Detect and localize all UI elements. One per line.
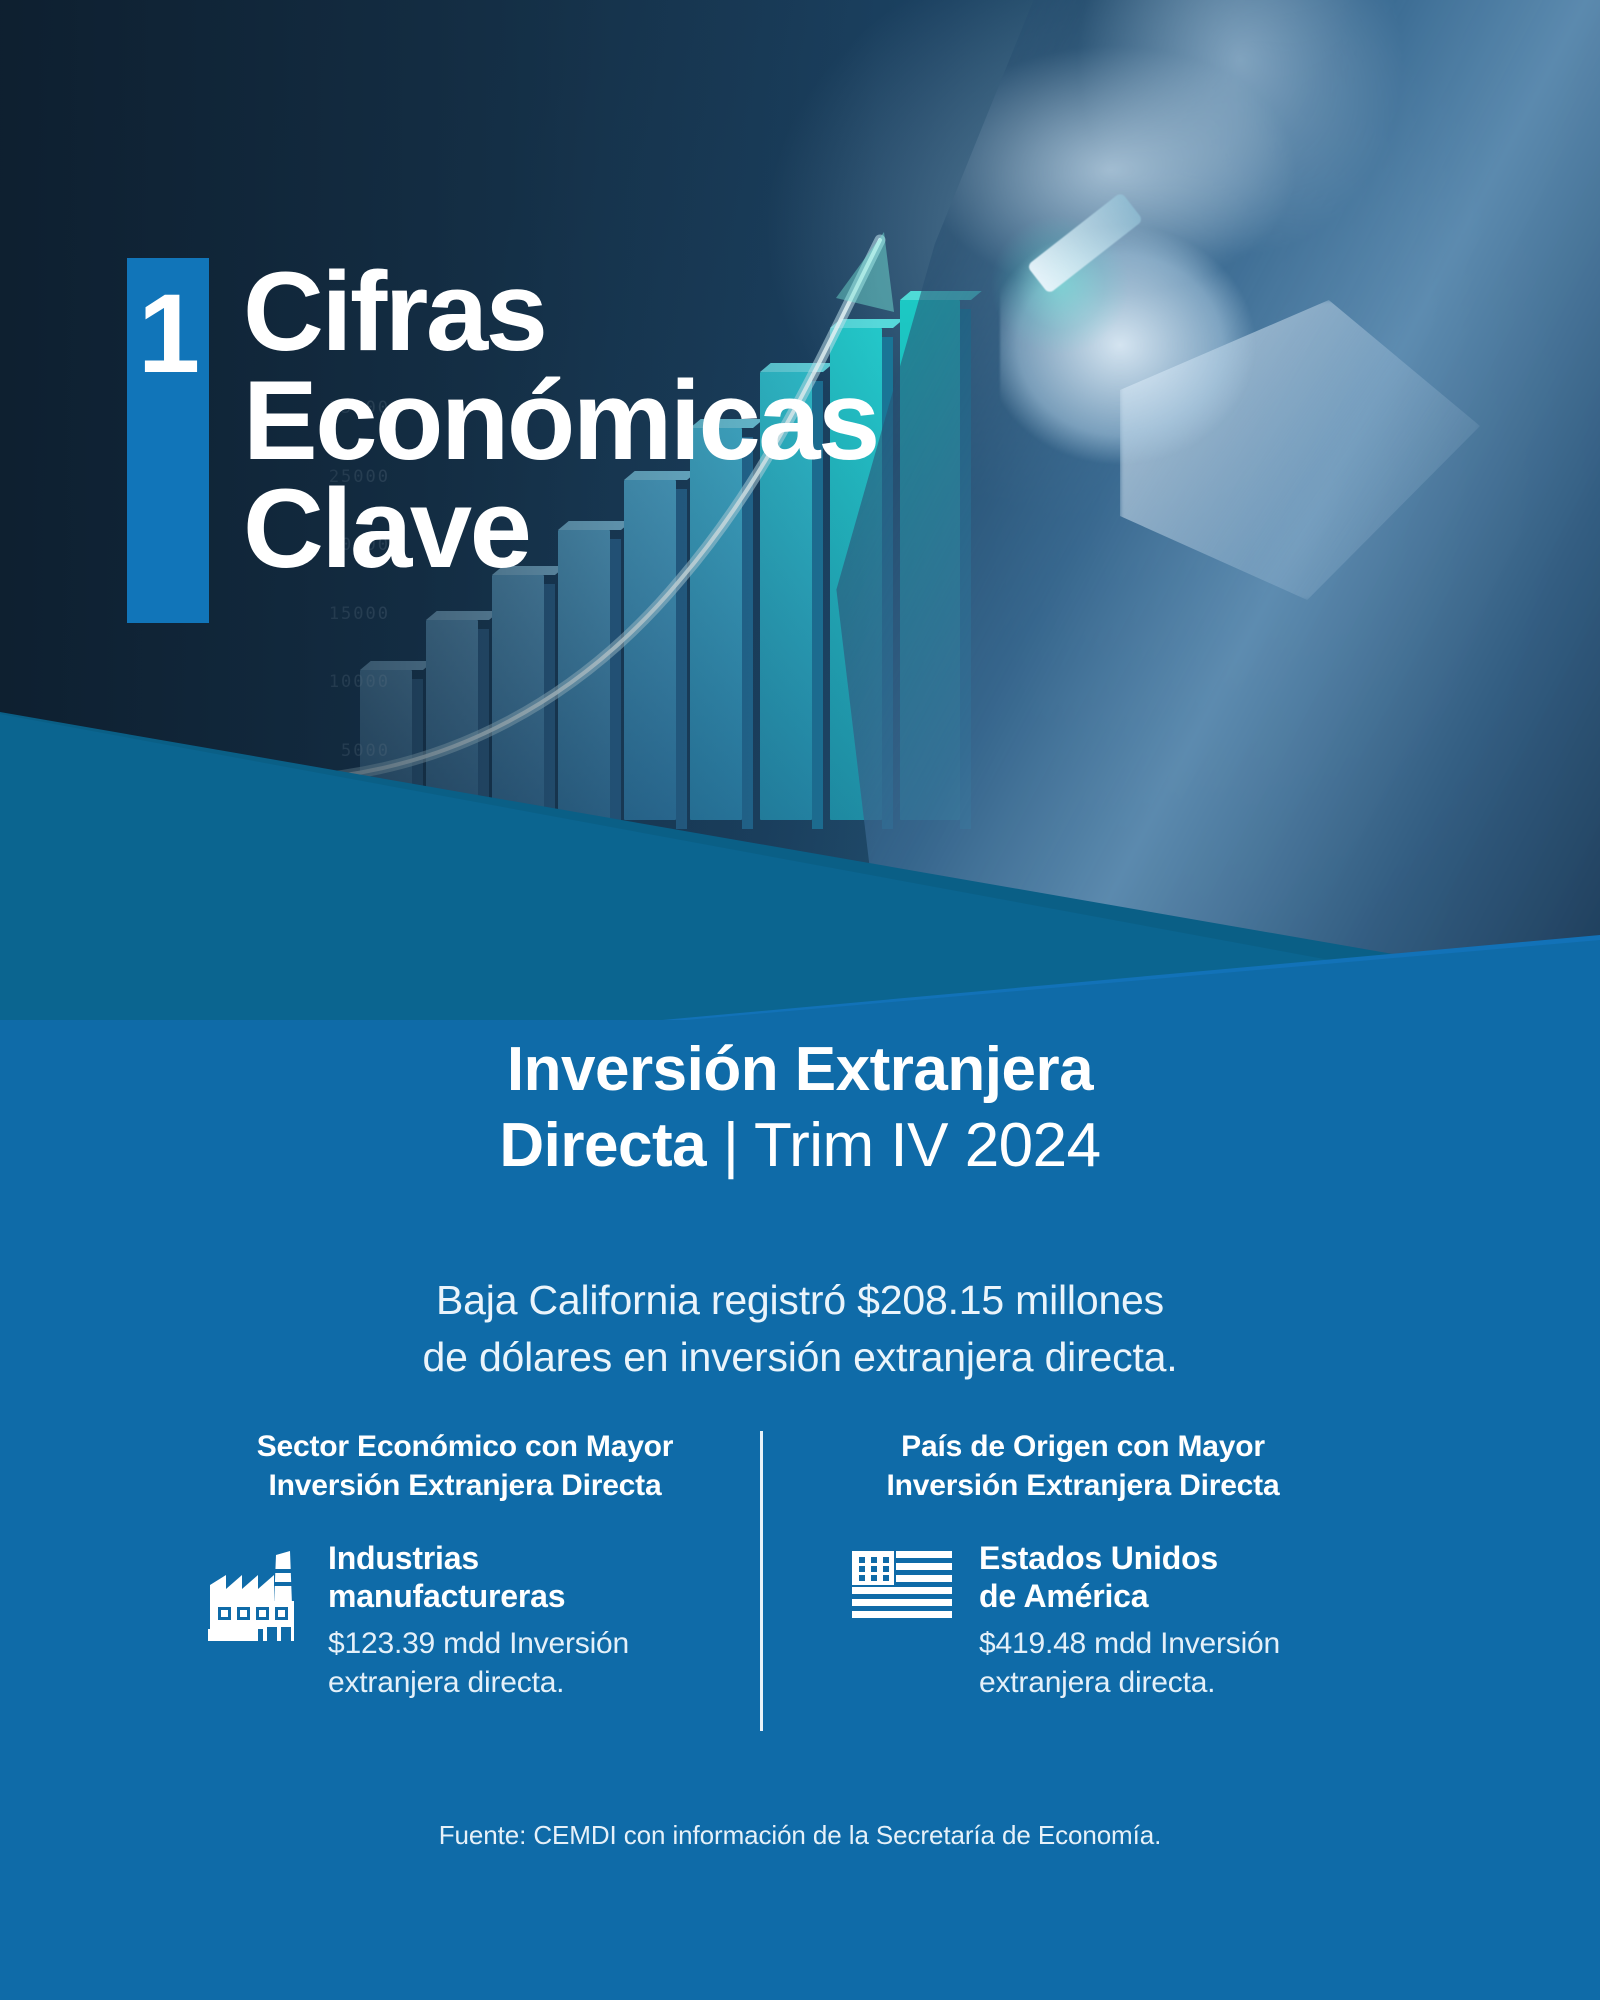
sector-title-line-1: Industrias [328, 1539, 730, 1577]
usa-flag-icon-wrap [843, 1539, 961, 1621]
hero-title-line-2: Económicas [243, 367, 878, 476]
lead-line-2: de dólares en inversión extranjera direc… [0, 1329, 1600, 1386]
page-title-bold-2: Directa [499, 1111, 706, 1180]
sector-title-line-2: manufactureras [328, 1577, 730, 1615]
hero-title-block: 1 Cifras Económicas Clave [127, 258, 878, 623]
factory-icon [206, 1549, 304, 1641]
column-sector: Sector Económico con Mayor Inversión Ext… [200, 1427, 760, 1767]
hero-title-lines: Cifras Económicas Clave [243, 258, 878, 584]
hero-title-line-1: Cifras [243, 258, 878, 367]
pais-title-line-1: Estados Unidos [979, 1539, 1323, 1577]
pais-card: Estados Unidos de América $419.48 mdd In… [843, 1539, 1323, 1702]
column-sector-heading-line-1: Sector Económico con Mayor [200, 1427, 730, 1466]
hero-title-line-3: Clave [243, 475, 878, 584]
section-number: 1 [138, 278, 198, 623]
usa-flag-icon [852, 1549, 952, 1621]
lead-paragraph: Baja California registró $208.15 millone… [0, 1272, 1600, 1387]
pais-card-title: Estados Unidos de América [979, 1539, 1323, 1616]
stats-columns: Sector Económico con Mayor Inversión Ext… [200, 1427, 1410, 1767]
column-pais-heading: País de Origen con Mayor Inversión Extra… [843, 1427, 1323, 1505]
pais-card-body: Estados Unidos de América $419.48 mdd In… [979, 1539, 1323, 1702]
infographic-poster: 35000 25000 20000 15000 10000 5000 Jan F… [0, 0, 1600, 2000]
pais-title-line-2: de América [979, 1577, 1323, 1615]
column-sector-heading-line-2: Inversión Extranjera Directa [200, 1466, 730, 1505]
lead-line-1: Baja California registró $208.15 millone… [0, 1272, 1600, 1329]
source-note: Fuente: CEMDI con información de la Secr… [0, 1820, 1600, 1851]
sector-card-text: $123.39 mdd Inversión extranjera directa… [328, 1624, 730, 1702]
column-pais-heading-line-2: Inversión Extranjera Directa [843, 1466, 1323, 1505]
page-title-period: Trim IV 2024 [754, 1111, 1101, 1180]
page-title: Inversión Extranjera Directa | Trim IV 2… [0, 1032, 1600, 1183]
column-pais-origen: País de Origen con Mayor Inversión Extra… [763, 1427, 1323, 1767]
page-title-line-1: Inversión Extranjera [0, 1032, 1600, 1108]
sector-card-body: Industrias manufactureras $123.39 mdd In… [328, 1539, 730, 1702]
column-pais-heading-line-1: País de Origen con Mayor [843, 1427, 1323, 1466]
sector-card-title: Industrias manufactureras [328, 1539, 730, 1616]
section-number-badge: 1 [127, 258, 209, 623]
page-title-line-2: Directa | Trim IV 2024 [0, 1108, 1600, 1184]
pais-card-text: $419.48 mdd Inversión extranjera directa… [979, 1624, 1323, 1702]
page-title-separator: | [723, 1111, 739, 1180]
column-sector-heading: Sector Económico con Mayor Inversión Ext… [200, 1427, 730, 1505]
page-title-bold-1: Inversión Extranjera [507, 1035, 1093, 1104]
factory-icon-wrap [200, 1539, 310, 1641]
sector-card: Industrias manufactureras $123.39 mdd In… [200, 1539, 730, 1702]
